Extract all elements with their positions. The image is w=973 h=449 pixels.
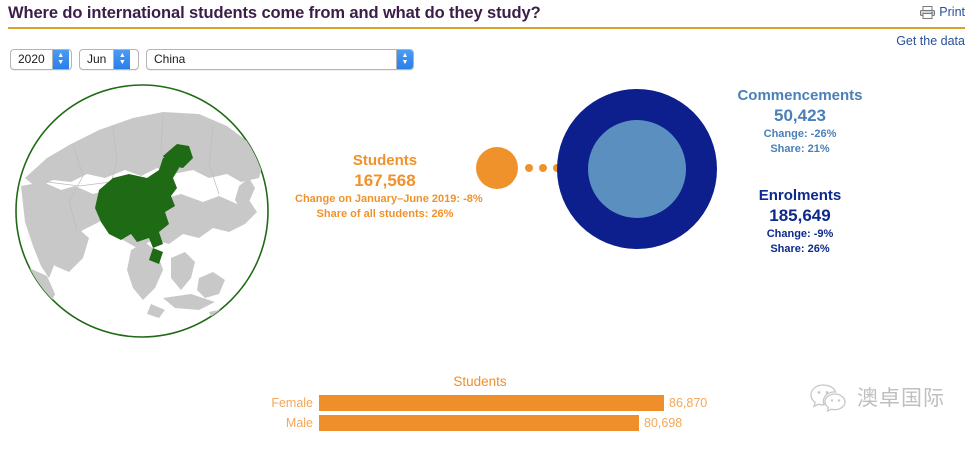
country-select-value: China [147,50,396,69]
enrolments-value: 185,649 [700,205,900,227]
month-select[interactable]: Jun ▲▼ [79,49,139,70]
bar-row: Female 86,870 [240,395,720,411]
get-the-data-link[interactable]: Get the data [896,34,965,48]
month-select-value: Jun [80,50,113,69]
bar-category-label: Female [240,395,319,411]
students-share: Share of all students: 26% [295,207,475,222]
stepper-updown-icon[interactable]: ▲▼ [52,50,69,69]
print-label: Print [939,5,965,19]
students-bubble [476,147,518,189]
bar-row: Male 80,698 [240,415,720,431]
enrolments-label: Enrolments [700,186,900,205]
country-select[interactable]: China ▲▼ [146,49,414,70]
enrolments-change: Change: -9% [700,227,900,242]
bar-value-label: 80,698 [644,415,682,431]
students-label: Students [295,152,475,170]
bar-fill [319,395,664,411]
commencements-value: 50,423 [700,105,900,127]
year-select[interactable]: 2020 ▲▼ [10,49,72,70]
commencements-bubble [588,120,686,218]
stepper-updown-icon[interactable]: ▲▼ [113,50,130,69]
commencements-share: Share: 21% [700,142,900,157]
year-select-value: 2020 [11,50,52,69]
stepper-updown-icon[interactable]: ▲▼ [396,50,413,69]
enrolments-stat-block: Enrolments 185,649 Change: -9% Share: 26… [700,186,900,257]
page-title: Where do international students come fro… [8,4,541,23]
bar-category-label: Male [240,415,319,431]
globe-orthographic-asia-icon [13,82,271,340]
students-change: Change on January–June 2019: -8% [295,192,475,207]
flow-dots-icon [525,163,561,173]
bar-track: 86,870 [319,395,720,411]
watermark-text: 澳卓国际 [857,382,945,412]
watermark: 澳卓国际 [810,382,945,412]
commencements-label: Commencements [700,86,900,105]
flow-dot [525,164,533,172]
print-button[interactable]: Print [920,5,965,19]
enrolments-share: Share: 26% [700,242,900,257]
students-stat-block: Students 167,568 Change on January–June … [295,152,475,222]
bar-track: 80,698 [319,415,720,431]
chart-title: Students [240,374,720,390]
flow-dot [539,164,547,172]
students-value: 167,568 [295,170,475,192]
bar-fill [319,415,639,431]
printer-icon [920,6,935,19]
bar-value-label: 86,870 [669,395,707,411]
title-divider [8,27,965,29]
wechat-icon [810,382,848,412]
enrolments-bubble [557,89,717,249]
students-by-gender-chart: Students Female 86,870 Male 80,698 [240,374,720,436]
commencements-change: Change: -26% [700,127,900,142]
page-header: Where do international students come fro… [0,0,973,30]
commencements-stat-block: Commencements 50,423 Change: -26% Share:… [700,86,900,157]
filter-bar: 2020 ▲▼ Jun ▲▼ China ▲▼ [10,48,414,70]
